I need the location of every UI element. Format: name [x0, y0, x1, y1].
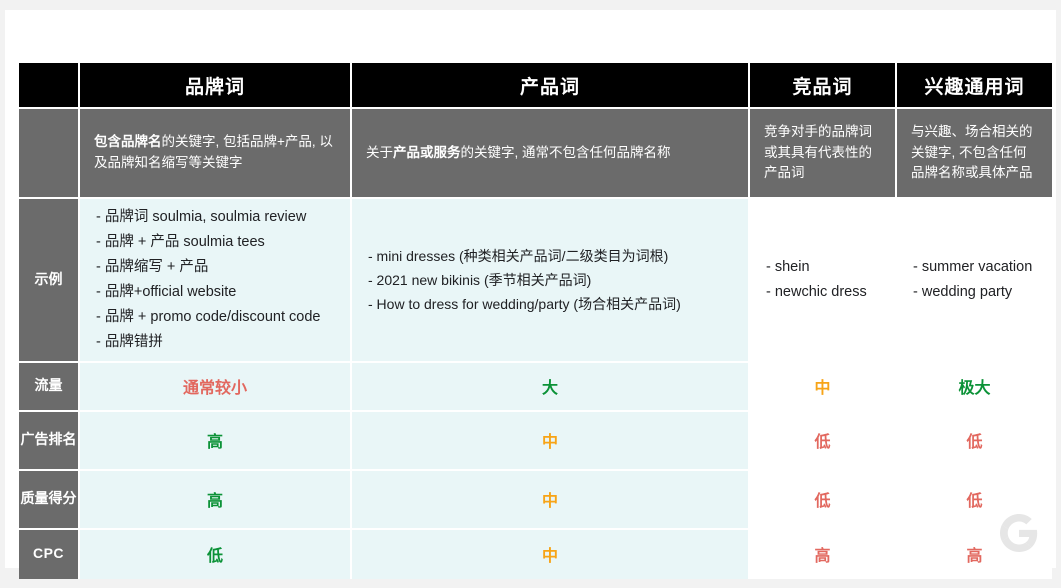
table-row: 流量 通常较小 大 中 极大 — [19, 363, 1052, 412]
table-row: CPC 低 中 高 高 — [19, 530, 1052, 579]
quality-score-competitor-value: 低 — [750, 471, 897, 530]
quality-score-product-value: 中 — [352, 471, 750, 530]
slide-white-area: 品牌词 产品词 竞品词 兴趣通用词 包含品牌名的关键字, 包括品牌+产品, 以及… — [5, 10, 1056, 568]
list-item: - 品牌+official website — [96, 280, 334, 305]
column-header-interest: 兴趣通用词 — [897, 63, 1052, 109]
ad-rank-competitor-value: 低 — [750, 412, 897, 471]
cpc-competitor-value: 高 — [750, 530, 897, 579]
definition-row-label-cell — [19, 109, 80, 199]
list-item: - 品牌 + 产品 soulmia tees — [96, 230, 334, 255]
definition-competitor: 竞争对手的品牌词或其具有代表性的产品词 — [750, 109, 897, 199]
examples-brand: - 品牌词 soulmia, soulmia review - 品牌 + 产品 … — [80, 199, 352, 363]
list-item: - wedding party — [913, 280, 1036, 305]
cpc-product-value: 中 — [352, 530, 750, 579]
ad-rank-interest-value: 低 — [897, 412, 1052, 471]
definition-row: 包含品牌名的关键字, 包括品牌+产品, 以及品牌知名缩写等关键字 关于产品或服务… — [19, 109, 1052, 199]
row-label-examples: 示例 — [19, 199, 80, 363]
list-item: - summer vacation — [913, 255, 1036, 280]
definition-product-bold: 产品或服务 — [393, 145, 461, 160]
examples-competitor: - shein - newchic dress — [750, 199, 897, 363]
header-corner-cell — [19, 63, 80, 109]
table-header-row: 品牌词 产品词 竞品词 兴趣通用词 — [19, 63, 1052, 109]
ad-rank-product-value: 中 — [352, 412, 750, 471]
list-item: - 2021 new bikinis (季节相关产品词) — [368, 268, 732, 292]
traffic-interest-value: 极大 — [897, 363, 1052, 412]
row-label-traffic: 流量 — [19, 363, 80, 412]
column-header-competitor: 竞品词 — [750, 63, 897, 109]
examples-product-list: - mini dresses (种类相关产品词/二级类目为词根) - 2021 … — [352, 238, 748, 322]
examples-competitor-list: - shein - newchic dress — [750, 249, 895, 311]
traffic-product-value: 大 — [352, 363, 750, 412]
traffic-brand-value: 通常较小 — [80, 363, 352, 412]
keyword-type-table: 品牌词 产品词 竞品词 兴趣通用词 包含品牌名的关键字, 包括品牌+产品, 以及… — [19, 63, 1052, 547]
table: 品牌词 产品词 竞品词 兴趣通用词 包含品牌名的关键字, 包括品牌+产品, 以及… — [19, 63, 1052, 579]
google-g-icon — [1000, 514, 1038, 552]
definition-product-prefix: 关于 — [366, 145, 393, 160]
list-item: - newchic dress — [766, 280, 879, 305]
column-header-product: 产品词 — [352, 63, 750, 109]
list-item: - 品牌错拼 — [96, 330, 334, 355]
examples-brand-list: - 品牌词 soulmia, soulmia review - 品牌 + 产品 … — [80, 199, 350, 361]
definition-brand-bold: 包含品牌名 — [94, 134, 162, 149]
column-header-brand: 品牌词 — [80, 63, 352, 109]
definition-product-rest: 的关键字, 通常不包含任何品牌名称 — [461, 145, 671, 160]
slide-canvas: 品牌词 产品词 竞品词 兴趣通用词 包含品牌名的关键字, 包括品牌+产品, 以及… — [0, 0, 1061, 588]
list-item: - 品牌 + promo code/discount code — [96, 305, 334, 330]
definition-interest: 与兴趣、场合相关的关键字, 不包含任何品牌名称或具体产品 — [897, 109, 1052, 199]
examples-interest-list: - summer vacation - wedding party — [897, 249, 1052, 311]
ad-rank-brand-value: 高 — [80, 412, 352, 471]
cpc-brand-value: 低 — [80, 530, 352, 579]
list-item: - 品牌词 soulmia, soulmia review — [96, 205, 334, 230]
definition-brand: 包含品牌名的关键字, 包括品牌+产品, 以及品牌知名缩写等关键字 — [80, 109, 352, 199]
examples-product: - mini dresses (种类相关产品词/二级类目为词根) - 2021 … — [352, 199, 750, 363]
row-label-quality-score: 质量得分 — [19, 471, 80, 530]
list-item: - mini dresses (种类相关产品词/二级类目为词根) — [368, 244, 732, 268]
list-item: - 品牌缩写 + 产品 — [96, 255, 334, 280]
table-row: 质量得分 高 中 低 低 — [19, 471, 1052, 530]
table-row: 示例 - 品牌词 soulmia, soulmia review - 品牌 + … — [19, 199, 1052, 363]
table-row: 广告排名 高 中 低 低 — [19, 412, 1052, 471]
quality-score-brand-value: 高 — [80, 471, 352, 530]
list-item: - shein — [766, 255, 879, 280]
definition-product: 关于产品或服务的关键字, 通常不包含任何品牌名称 — [352, 109, 750, 199]
traffic-competitor-value: 中 — [750, 363, 897, 412]
list-item: - How to dress for wedding/party (场合相关产品… — [368, 292, 732, 316]
row-label-ad-rank: 广告排名 — [19, 412, 80, 471]
examples-interest: - summer vacation - wedding party — [897, 199, 1052, 363]
row-label-cpc: CPC — [19, 530, 80, 579]
